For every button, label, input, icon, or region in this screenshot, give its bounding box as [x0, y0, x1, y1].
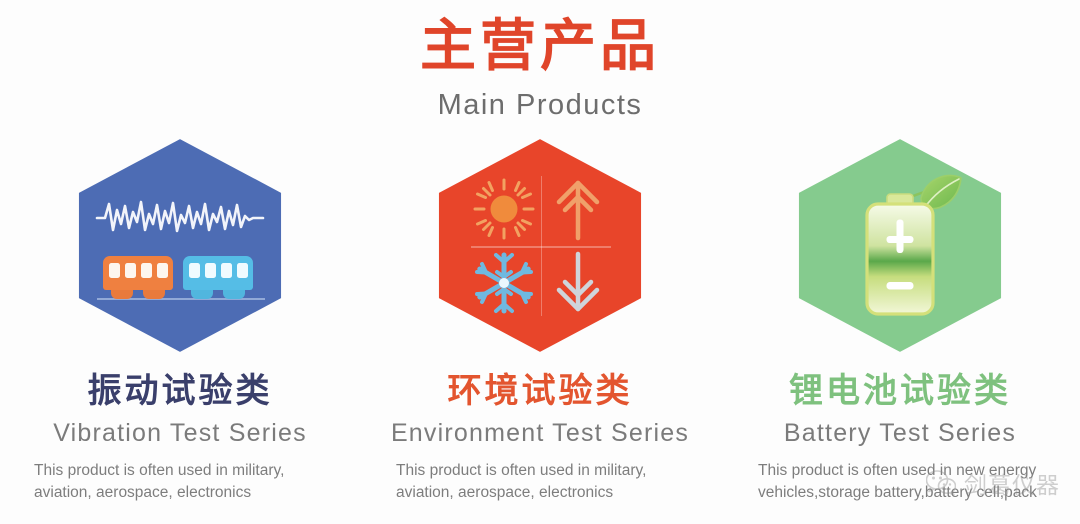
vibration-train-waveform-icon [73, 138, 288, 353]
battery-with-leaf-icon [839, 168, 963, 328]
product-card-battery[interactable]: 锂电池试验类 Battery Test Series This product … [720, 138, 1080, 504]
arrow-down-cell [541, 246, 615, 320]
product-label-cn: 振动试验类 [88, 367, 273, 415]
train-car-orange [103, 256, 173, 290]
snowflake-icon [467, 246, 541, 320]
battery-leaf-icon [793, 138, 1008, 353]
page-title-cn: 主营产品 [0, 8, 1080, 84]
product-columns: 振动试验类 Vibration Test Series This product… [0, 138, 1080, 504]
page-header: 主营产品 Main Products [0, 0, 1080, 124]
train-car-blue [183, 256, 253, 290]
product-description: This product is often used in new energy… [744, 460, 1056, 504]
product-card-vibration[interactable]: 振动试验类 Vibration Test Series This product… [0, 138, 360, 504]
battery-hexagon[interactable] [793, 138, 1008, 353]
product-description: This product is often used in military, … [24, 460, 336, 504]
sun-cell [467, 172, 541, 246]
arrow-up-icon [541, 172, 615, 246]
waveform-icon [95, 196, 265, 240]
environment-hexagon[interactable] [433, 138, 648, 353]
sun-icon [467, 172, 541, 246]
page-title-en: Main Products [0, 86, 1080, 124]
product-card-environment[interactable]: 环境试验类 Environment Test Series This produ… [360, 138, 720, 504]
arrow-up-cell [541, 172, 615, 246]
snowflake-cell [467, 246, 541, 320]
product-label-en: Vibration Test Series [53, 416, 307, 450]
product-label-cn: 锂电池试验类 [789, 367, 1011, 415]
train-cars-icon [103, 256, 259, 304]
product-label-en: Battery Test Series [784, 416, 1016, 450]
slide-root: 主营产品 Main Products [0, 0, 1080, 524]
environment-sun-snowflake-arrows-icon [433, 138, 648, 353]
arrow-down-icon [541, 246, 615, 320]
vibration-hexagon[interactable] [73, 138, 288, 353]
product-label-cn: 环境试验类 [448, 367, 633, 415]
product-label-en: Environment Test Series [391, 416, 689, 450]
product-description: This product is often used in military, … [384, 460, 696, 504]
quadrant-grid [467, 172, 615, 320]
